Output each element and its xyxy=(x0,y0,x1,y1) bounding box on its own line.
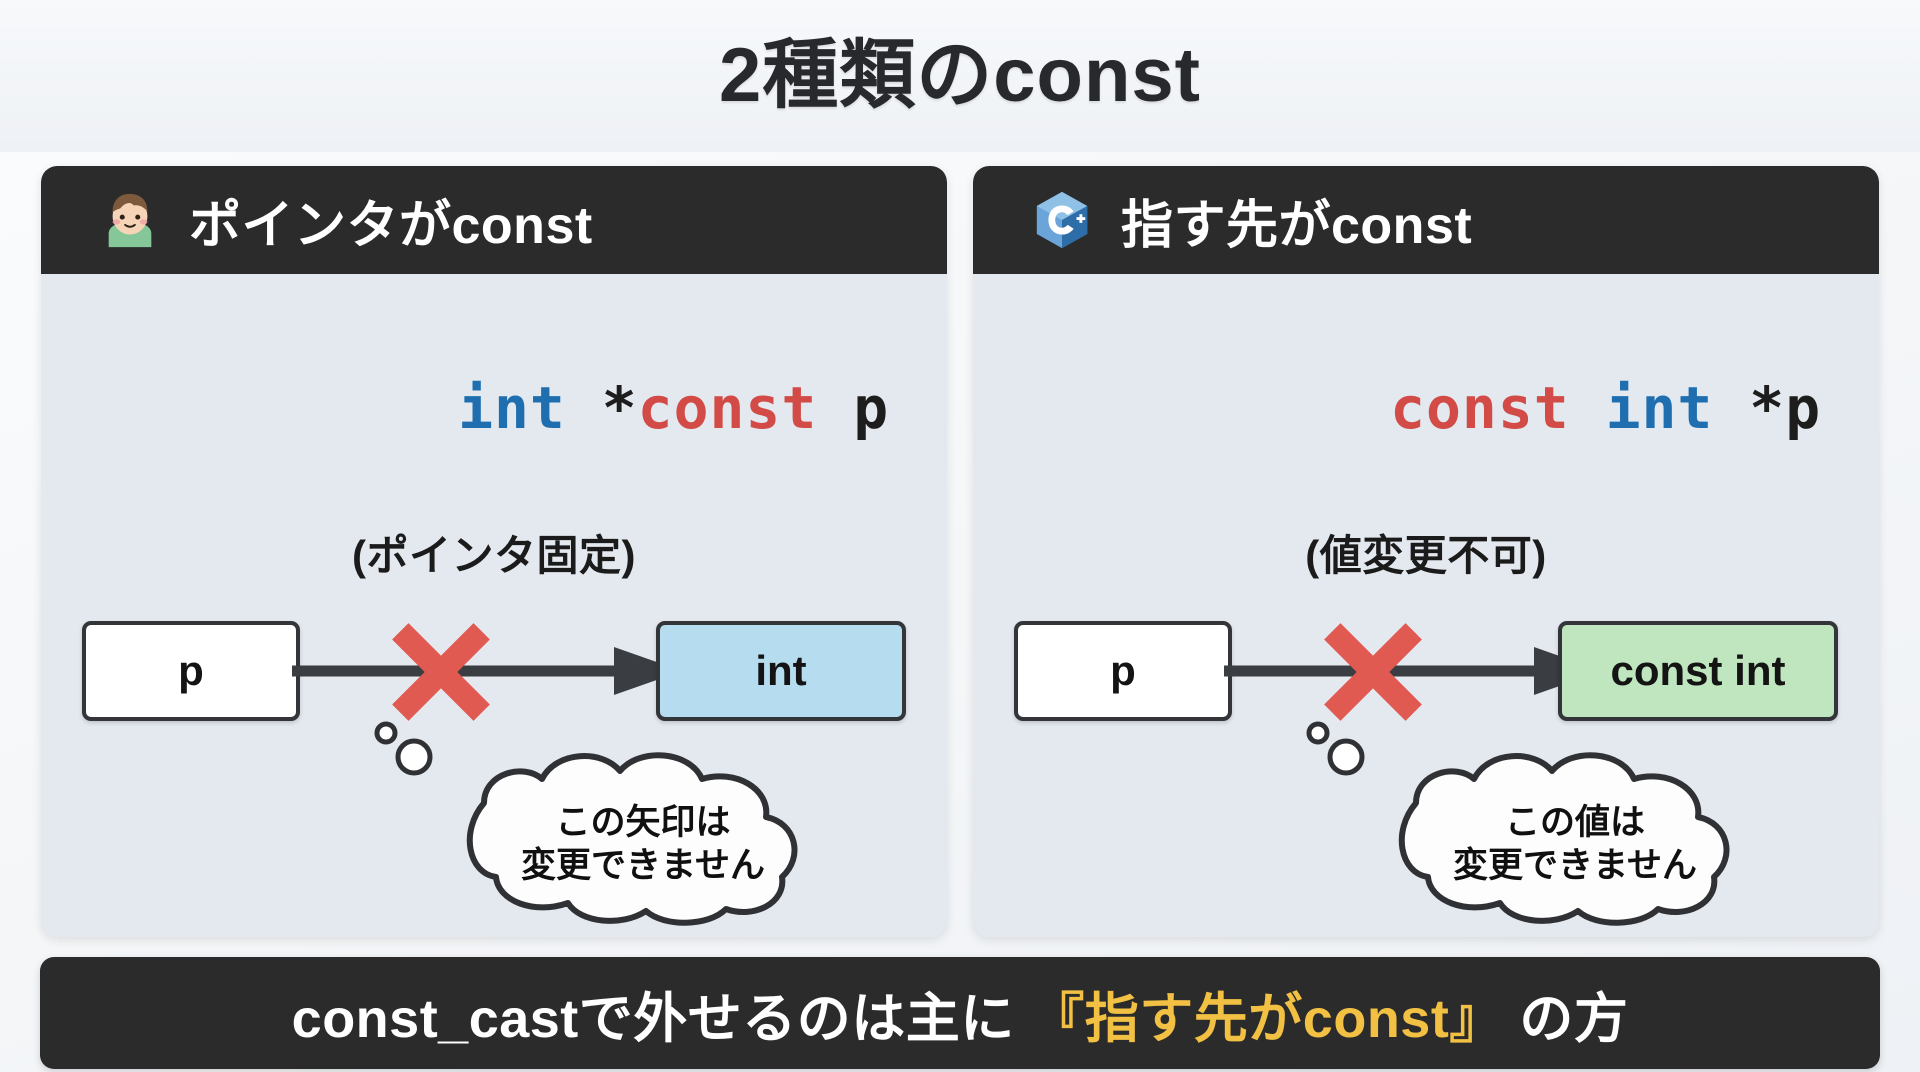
card-header-title-left: ポインタがconst xyxy=(189,183,593,258)
diagram-source-box-right: p xyxy=(1014,621,1232,721)
diagram-source-box-left: p xyxy=(82,621,300,721)
code-token-space1 xyxy=(566,374,602,442)
banner-text: const_castで外せるのは主に 『指す先がconst』 の方 xyxy=(292,974,1629,1053)
cloud-callout-left: この矢印は 変更できません xyxy=(334,711,894,931)
code-token-space2 xyxy=(1713,374,1749,442)
banner-prefix: const_castで外せるのは主に xyxy=(292,989,1031,1049)
diagram-right: p const int xyxy=(996,607,1856,937)
cloud-callout-right: この値は 変更できません xyxy=(1266,711,1826,931)
code-token-var: *p xyxy=(1749,374,1821,442)
bottom-banner: const_castで外せるのは主に 『指す先がconst』 の方 xyxy=(40,957,1880,1069)
card-header-left: ポインタがconst xyxy=(41,166,947,274)
code-subtitle-left: (ポインタ固定) xyxy=(352,522,636,583)
diagram-target-box-left: int xyxy=(656,621,906,721)
card-pointee-const: 指す先がconst const int *p (値変更不可) p xyxy=(973,166,1879,937)
card-body-left: int *const p (ポインタ固定) p xyxy=(41,274,947,937)
code-token-var: p xyxy=(817,374,889,442)
title-band: 2種類のconst xyxy=(0,0,1920,152)
cloud-bubble-icon xyxy=(334,711,894,931)
code-line-left: int *const p xyxy=(99,308,889,508)
card-header-right: 指す先がconst xyxy=(973,166,1879,274)
code-token-type: int xyxy=(1606,374,1714,442)
code-subtitle-right: (値変更不可) xyxy=(1305,522,1546,583)
code-token-space1 xyxy=(1570,374,1606,442)
banner-accent: 『指す先がconst』 xyxy=(1030,989,1504,1049)
code-token-type: int xyxy=(458,374,566,442)
arrow-right-icon xyxy=(292,621,712,721)
cards-row: ポインタがconst int *const p (ポインタ固定) p xyxy=(40,166,1880,937)
slide-root: 2種類のconst ポインタがconst int xyxy=(0,0,1920,1072)
page-title: 2種類のconst xyxy=(719,38,1201,114)
code-line-right: const int *p xyxy=(1031,308,1821,508)
code-token-asterisk: * xyxy=(602,374,638,442)
cloud-bubble-icon xyxy=(1266,711,1826,931)
diagram-left: p int xyxy=(64,607,924,937)
cpp-logo-icon xyxy=(1031,189,1093,251)
card-pointer-const: ポインタがconst int *const p (ポインタ固定) p xyxy=(41,166,947,937)
card-header-title-right: 指す先がconst xyxy=(1121,183,1472,258)
code-token-const: const xyxy=(638,374,818,442)
code-token-const: const xyxy=(1390,374,1570,442)
boy-avatar-icon xyxy=(99,189,161,251)
banner-suffix: の方 xyxy=(1504,989,1629,1049)
card-body-right: const int *p (値変更不可) p c xyxy=(973,274,1879,937)
diagram-target-box-right: const int xyxy=(1558,621,1838,721)
